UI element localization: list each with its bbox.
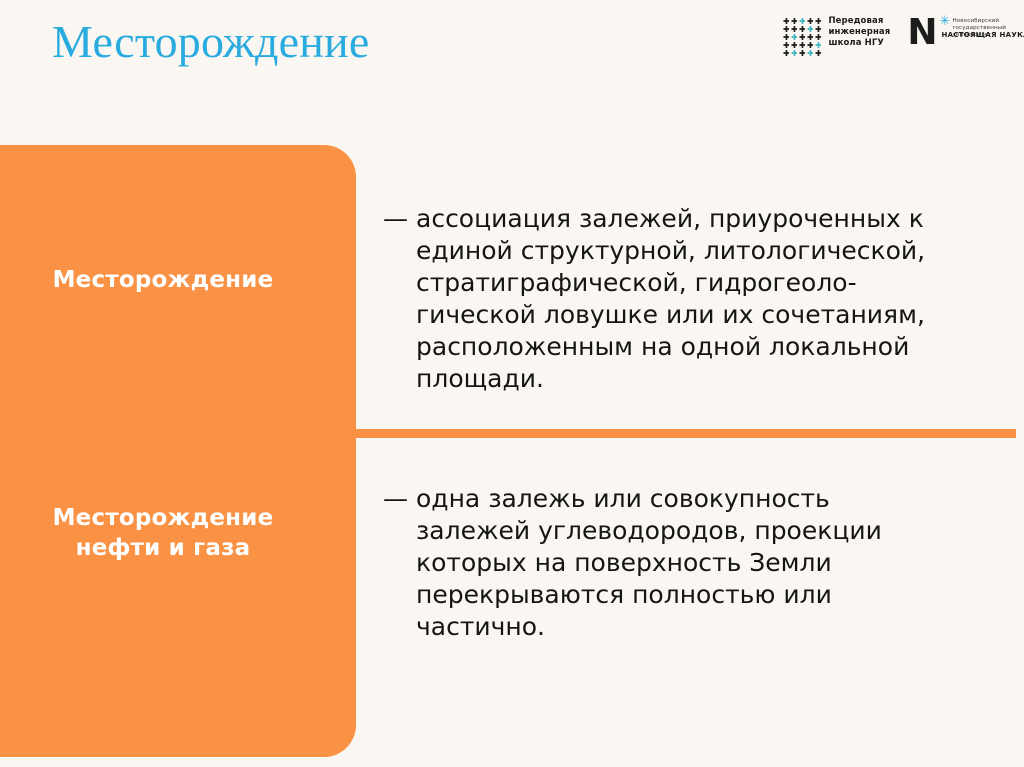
- slide-canvas: Месторождение Передовая инженерная школа…: [0, 0, 1024, 767]
- asterisk-icon: ✳: [939, 16, 950, 27]
- definition-2-line-3: которых на поверхность Земли: [416, 548, 832, 577]
- pis-wordmark-line-2: инженерная: [828, 27, 890, 38]
- pis-wordmark-line-1: Передовая: [828, 16, 890, 27]
- nsu-university-line-1: Новосибирский: [952, 18, 1006, 25]
- nsu-tagline: НАСТОЯЩАЯ НАУКА: [941, 31, 1024, 40]
- row-divider: [300, 429, 1016, 438]
- nsu-logo: N ✳ Новосибирский государственный универ…: [907, 16, 1006, 50]
- definition-2-line-1: одна залежь или совокупность: [416, 484, 830, 513]
- definition-1-line-6: площади.: [416, 364, 544, 393]
- term-label-2: Месторождение нефти и газа: [0, 503, 326, 563]
- definition-2: — одна залежь или совокупность залежей у…: [383, 483, 943, 643]
- pis-nsu-logo: Передовая инженерная школа НГУ: [783, 16, 890, 56]
- definition-1-line-5: расположенным на одной локальной: [416, 332, 909, 361]
- definition-2-line-5: частично.: [416, 612, 545, 641]
- term-label-1: Месторождение: [0, 265, 326, 295]
- dot-matrix-icon: [783, 18, 821, 56]
- nsu-wordmark: ✳ Новосибирский государственный универси…: [939, 16, 1006, 39]
- definition-1-body: ассоциация залежей, приуроченных к едино…: [416, 203, 1003, 395]
- logo-bar: Передовая инженерная школа НГУ N ✳ Новос…: [783, 16, 1006, 56]
- page-title: Месторождение: [52, 14, 369, 70]
- definition-2-body: одна залежь или совокупность залежей угл…: [416, 483, 943, 643]
- definition-1-line-4: гической ловушке или их сочетаниям,: [416, 300, 925, 329]
- definition-1-line-3: стратиграфической, гидрогеоло-: [416, 268, 857, 297]
- pis-wordmark-line-3: школа НГУ: [828, 38, 890, 49]
- definition-2-line-4: перекрываются полностью или: [416, 580, 832, 609]
- em-dash-1: —: [383, 203, 416, 235]
- definition-1: — ассоциация залежей, приуроченных к еди…: [383, 203, 1003, 395]
- pis-wordmark: Передовая инженерная школа НГУ: [828, 16, 890, 49]
- nsu-letter-n: N: [907, 16, 936, 50]
- term-label-panel: Месторождение Месторождение нефти и газа: [0, 145, 356, 757]
- definition-1-line-1: ассоциация залежей, приуроченных к: [416, 204, 924, 233]
- em-dash-2: —: [383, 483, 416, 515]
- definition-2-line-2: залежей углеводородов, проекции: [416, 516, 882, 545]
- term-label-2-line-1: Месторождение: [0, 503, 326, 533]
- definition-1-line-2: единой структурной, литологической,: [416, 236, 925, 265]
- term-label-2-line-2: нефти и газа: [0, 533, 326, 563]
